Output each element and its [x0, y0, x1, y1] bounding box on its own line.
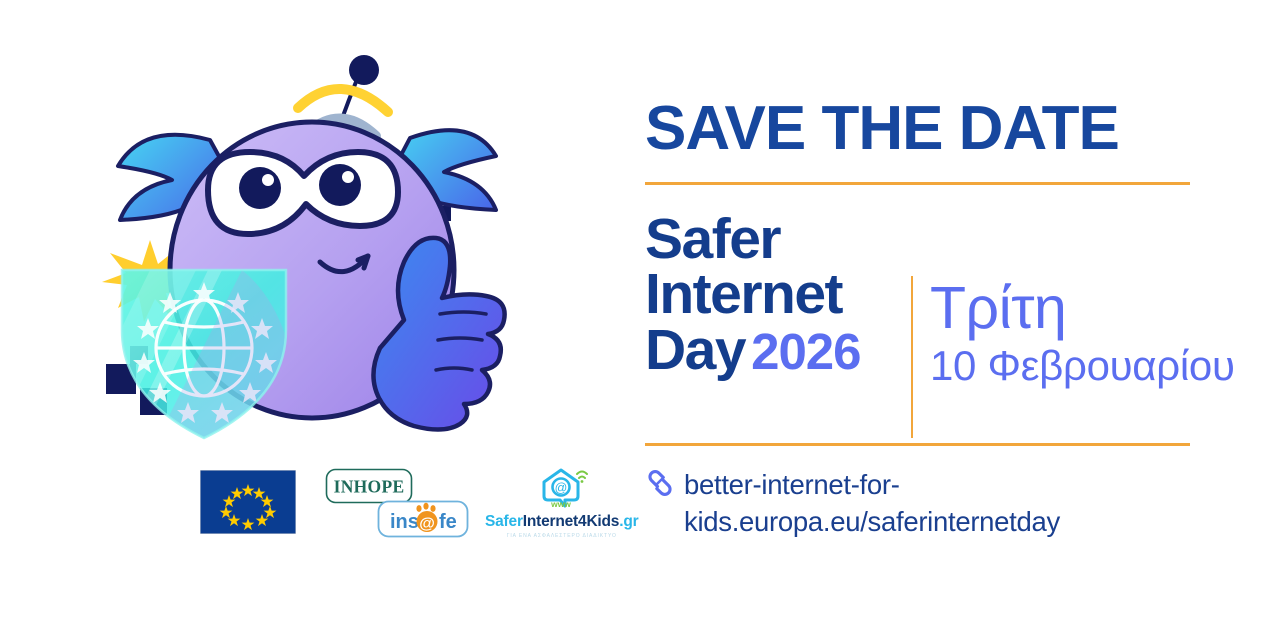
insafe-text-ins: ins — [390, 511, 419, 533]
si4k-word-tld: .gr — [619, 513, 638, 530]
inhope-label: INHOPE — [334, 477, 405, 497]
event-date-block: Τρίτη 10 Φεβρουαρίου — [930, 278, 1240, 390]
divider-bottom — [645, 443, 1190, 446]
event-title-line-1: Safer — [645, 212, 900, 267]
divider-top — [645, 182, 1190, 185]
event-title-block: Safer Internet Day2026 — [645, 212, 900, 378]
mascot-right-eye — [319, 164, 361, 206]
saferinternet4kids-logo: @ www SaferInternet4Kids.gr ΓΙΑ ΕΝΑ ΑΣΦΑ… — [485, 462, 638, 539]
event-url-block[interactable]: better-internet-for-kids.europa.eu/safer… — [645, 466, 1205, 540]
insafe-logo: ins @ fe — [377, 500, 469, 543]
event-title-line-3: Day2026 — [645, 323, 900, 378]
mascot-shield-icon — [92, 270, 302, 450]
si4k-tagline: ΓΙΑ ΕΝΑ ΑΣΦΑΛΕΣΤΕΡΟ ΔΙΑΔΙΚΤΥΟ — [485, 533, 638, 539]
si4k-wordmark: SaferInternet4Kids.gr — [485, 513, 638, 531]
safer-internet-day-mascot — [92, 30, 572, 450]
event-url[interactable]: better-internet-for-kids.europa.eu/safer… — [684, 466, 1194, 540]
text-panel: SAVE THE DATE Safer Internet Day2026 Τρί… — [645, 0, 1245, 640]
si4k-icon: @ www — [485, 462, 638, 513]
save-the-date-poster: INHOPE ins @ fe — [0, 0, 1280, 640]
si4k-word-safer: Safer — [485, 513, 523, 530]
partner-logo-row: INHOPE ins @ fe — [195, 462, 635, 552]
si4k-at-glyph: @ — [554, 481, 567, 495]
insafe-at-glyph: @ — [419, 516, 435, 533]
eu-flag-logo — [200, 470, 296, 539]
si4k-word-main: Internet4Kids — [523, 513, 619, 530]
event-year: 2026 — [751, 323, 860, 380]
si4k-www-label: www — [550, 499, 571, 508]
event-title-day-word: Day — [645, 318, 745, 382]
insafe-text-fe: fe — [439, 511, 457, 533]
divider-vertical — [911, 276, 913, 438]
event-url-line-2: saferinternetday — [868, 506, 1060, 537]
chain-link-icon — [645, 470, 675, 501]
mascot-panel: INHOPE ins @ fe — [0, 0, 620, 640]
mascot-left-eye — [239, 167, 281, 209]
event-date: 10 Φεβρουαρίου — [930, 342, 1240, 390]
page-title: SAVE THE DATE — [645, 98, 1119, 160]
event-title-line-2: Internet — [645, 267, 900, 322]
event-day-name: Τρίτη — [930, 278, 1240, 338]
